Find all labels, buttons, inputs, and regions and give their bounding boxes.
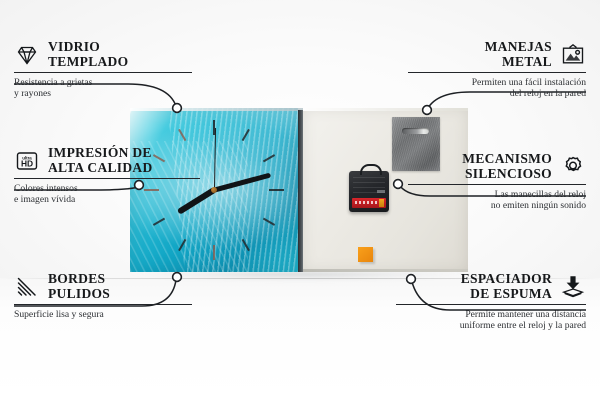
foam-spacer — [358, 247, 373, 262]
callout-subtitle-line2: uniforme entre el reloj y la pared — [396, 320, 586, 331]
callout-title-line1: BORDES — [48, 272, 110, 287]
callout-header: MECANISMO SILENCIOSO — [408, 152, 586, 181]
callout-title-line1: VIDRIO — [48, 40, 128, 55]
callout-title-line2: ALTA CALIDAD — [48, 161, 153, 176]
callout-title-line1: ESPACIADOR — [461, 272, 552, 287]
battery-print — [355, 201, 377, 204]
callout-manejas-metal[interactable]: MANEJAS METAL Permiten una fácil instala… — [408, 40, 586, 100]
callout-vidrio-templado[interactable]: VIDRIO TEMPLADO Resistencia a grietas y … — [14, 40, 192, 100]
callout-title-line2: SILENCIOSO — [462, 167, 552, 182]
ultra-hd-large-text: HD — [21, 158, 33, 168]
ultra-hd-icon: ultra HD — [14, 148, 40, 174]
callout-divider — [396, 304, 586, 305]
callout-title-line1: MANEJAS — [485, 40, 552, 55]
diagonal-lines-icon — [14, 274, 40, 300]
callout-impresion-alta-calidad[interactable]: ultra HD IMPRESIÓN DE ALTA CALIDAD Color… — [14, 146, 200, 206]
callout-divider — [14, 178, 200, 179]
callout-title: MANEJAS METAL — [485, 40, 552, 69]
callout-subtitle: Superficie lisa y segura — [14, 309, 192, 320]
clock-tick — [213, 190, 215, 260]
callout-title: ESPACIADOR DE ESPUMA — [461, 272, 552, 301]
callout-subtitle: Las manecillas del reloj no emiten ningú… — [408, 189, 586, 212]
callout-title: VIDRIO TEMPLADO — [48, 40, 128, 69]
battery — [352, 198, 386, 208]
callout-subtitle: Colores intensos e imagen vívida — [14, 183, 200, 206]
callout-title-line1: MECANISMO — [462, 152, 552, 167]
hanging-frame-icon — [560, 42, 586, 68]
callout-subtitle-line2: y rayones — [14, 88, 192, 99]
callout-mecanismo-silencioso[interactable]: MECANISMO SILENCIOSO Las manecillas del … — [408, 152, 586, 212]
callout-title-line2: TEMPLADO — [48, 55, 128, 70]
callout-title-line2: PULIDOS — [48, 287, 110, 302]
callout-espaciador-espuma[interactable]: ESPACIADOR DE ESPUMA Permite mantener un… — [396, 272, 586, 332]
callout-divider — [408, 72, 586, 73]
callout-subtitle-line1: Permite mantener una distancia — [396, 309, 586, 320]
callout-title-line2: DE ESPUMA — [461, 287, 552, 302]
callout-header: MANEJAS METAL — [408, 40, 586, 69]
callout-bordes-pulidos[interactable]: BORDES PULIDOS Superficie lisa y segura — [14, 272, 192, 320]
callout-subtitle-line1: Colores intensos — [14, 183, 200, 194]
diamond-icon — [14, 42, 40, 68]
callout-title-line2: METAL — [485, 55, 552, 70]
callout-subtitle-line2: e imagen vívida — [14, 194, 200, 205]
callout-subtitle: Permite mantener una distancia uniforme … — [396, 309, 586, 332]
callout-divider — [14, 72, 192, 73]
clock-center-cap — [211, 187, 217, 193]
callout-title: MECANISMO SILENCIOSO — [462, 152, 552, 181]
callout-subtitle-line2: del reloj en la pared — [408, 88, 586, 99]
panel-top-edge — [303, 108, 468, 111]
callout-header: ESPACIADOR DE ESPUMA — [396, 272, 586, 301]
callout-header: ultra HD IMPRESIÓN DE ALTA CALIDAD — [14, 146, 200, 175]
callout-subtitle: Resistencia a grietas y rayones — [14, 77, 192, 100]
callout-subtitle-line1: Resistencia a grietas — [14, 77, 192, 88]
infographic-canvas: VIDRIO TEMPLADO Resistencia a grietas y … — [0, 0, 600, 400]
callout-title: BORDES PULIDOS — [48, 272, 110, 301]
callout-subtitle-line1: Superficie lisa y segura — [14, 309, 192, 320]
callout-subtitle-line1: Las manecillas del reloj — [408, 189, 586, 200]
callout-subtitle-line1: Permiten una fácil instalación — [408, 77, 586, 88]
callout-subtitle-line2: no emiten ningún sonido — [408, 200, 586, 211]
callout-title-line1: IMPRESIÓN DE — [48, 146, 153, 161]
mechanism-label — [377, 190, 385, 193]
callout-header: BORDES PULIDOS — [14, 272, 192, 301]
callout-title: IMPRESIÓN DE ALTA CALIDAD — [48, 146, 153, 175]
arrow-onto-pad-icon — [560, 274, 586, 300]
callout-divider — [14, 304, 192, 305]
gear-icon — [560, 154, 586, 180]
quartz-mechanism — [349, 171, 389, 212]
callout-header: VIDRIO TEMPLADO — [14, 40, 192, 69]
mechanism-hang-loop — [360, 164, 382, 175]
callout-divider — [408, 184, 586, 185]
glass-top-highlight — [130, 108, 303, 111]
hanger-slot — [402, 128, 429, 134]
callout-subtitle: Permiten una fácil instalación del reloj… — [408, 77, 586, 100]
